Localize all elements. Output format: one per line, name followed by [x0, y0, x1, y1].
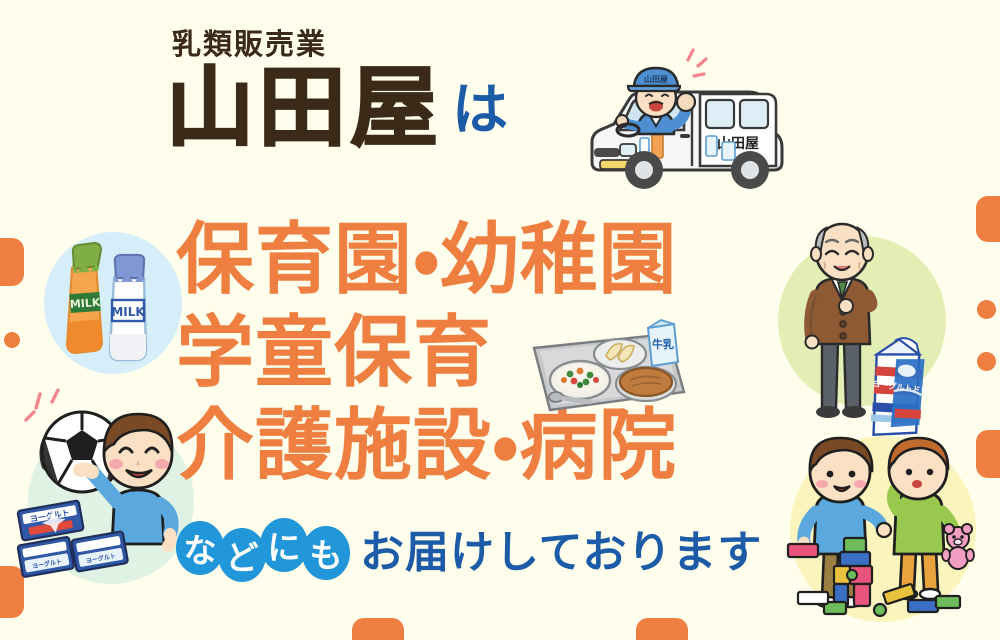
bubble-char-3: に	[260, 518, 308, 572]
children-blocks-illustration	[784, 432, 992, 632]
delivery-truck-illustration: 山田屋	[580, 38, 800, 200]
milk-label-white: MILK	[111, 305, 145, 319]
milk-bottles-illustration: MILK MILK	[52, 238, 176, 370]
bubble-group: な ど に も	[176, 521, 344, 575]
cap-logo-text: 山田屋	[644, 74, 668, 84]
bubble-char-4: も	[302, 526, 350, 580]
headline-line-1: 保育園・幼稚園	[176, 222, 836, 299]
headline-block: 保育園・幼稚園 学童保育 介護施設・病院	[176, 222, 836, 486]
decor-square-right-1	[976, 196, 1000, 242]
headline-line-2: 学童保育	[176, 315, 836, 392]
decor-dot-right-2	[977, 352, 996, 371]
decor-dot-left-1	[4, 332, 20, 348]
decor-dot-right-1	[977, 300, 996, 319]
decor-square-left-1	[0, 238, 24, 286]
yogurt-cups-illustration: ヨーグルト ヨーグルト ヨーグルト	[14, 496, 132, 592]
brand-particle: は	[452, 83, 508, 139]
brand-name: 山田屋	[166, 65, 442, 149]
delivery-statement: な ど に も お届けしております	[176, 516, 762, 580]
delivery-text: お届けしております	[360, 516, 762, 580]
headline-line-3: 介護施設・病院	[176, 408, 836, 485]
school-lunch-illustration: 牛乳	[528, 318, 690, 422]
brand-logo: 乳類販売業 山田屋 は	[166, 30, 566, 149]
bubble-char-2: ど	[218, 528, 266, 582]
decor-square-bottom-2	[636, 618, 688, 640]
milk-label-orange: MILK	[69, 296, 101, 311]
yogurt-drink-illustration: ヨーグルトドリンク	[852, 330, 948, 442]
promo-banner: 乳類販売業 山田屋 は 山田屋	[0, 0, 1000, 640]
lunch-milk-label: 牛乳	[652, 337, 674, 351]
decor-square-bottom-1	[352, 618, 404, 640]
